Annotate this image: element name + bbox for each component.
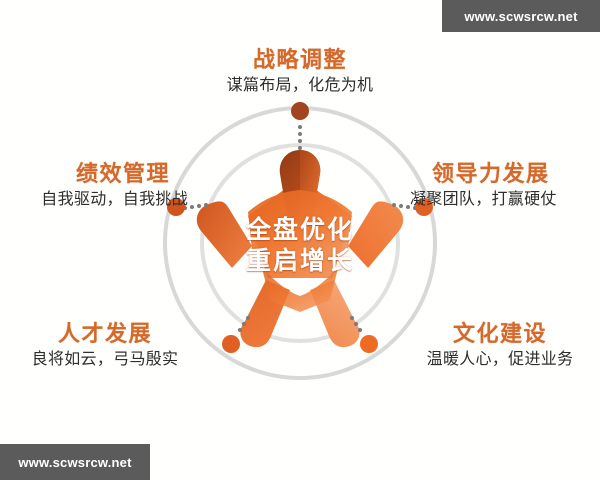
node-title-leadership-development: 领导力发展	[410, 162, 600, 187]
node-subtitle-culture-building: 温暖人心，促进业务	[400, 351, 600, 369]
node-title-performance-management: 绩效管理	[0, 162, 188, 187]
node-dot-strategy-adjustment[interactable]	[291, 102, 309, 120]
node-culture-building[interactable]: 文化建设 温暖人心，促进业务	[400, 322, 600, 369]
node-dot-culture-building[interactable]	[360, 335, 378, 353]
node-title-strategy-adjustment: 战略调整	[190, 48, 410, 73]
node-strategy-adjustment[interactable]: 战略调整 谋篇布局，化危为机	[190, 48, 410, 95]
infographic-root: 全盘优化 重启增长 战略调整 谋篇布局，化危为机 领导力发展 凝聚团队，打赢硬仗…	[0, 0, 600, 480]
node-talent-development[interactable]: 人才发展 良将如云，弓马殷实	[0, 322, 210, 369]
watermark-bottom: www.scwsrcw.net	[0, 444, 150, 480]
node-performance-management[interactable]: 绩效管理 自我驱动，自我挑战	[0, 162, 188, 209]
node-subtitle-strategy-adjustment: 谋篇布局，化危为机	[190, 77, 410, 95]
node-leadership-development[interactable]: 领导力发展 凝聚团队，打赢硬仗	[410, 162, 600, 209]
node-subtitle-performance-management: 自我驱动，自我挑战	[0, 191, 188, 209]
node-title-culture-building: 文化建设	[400, 322, 600, 347]
node-subtitle-talent-development: 良将如云，弓马殷实	[0, 351, 210, 369]
node-dot-talent-development[interactable]	[222, 335, 240, 353]
watermark-top: www.scwsrcw.net	[442, 0, 600, 32]
node-title-talent-development: 人才发展	[0, 322, 210, 347]
node-subtitle-leadership-development: 凝聚团队，打赢硬仗	[410, 191, 600, 209]
